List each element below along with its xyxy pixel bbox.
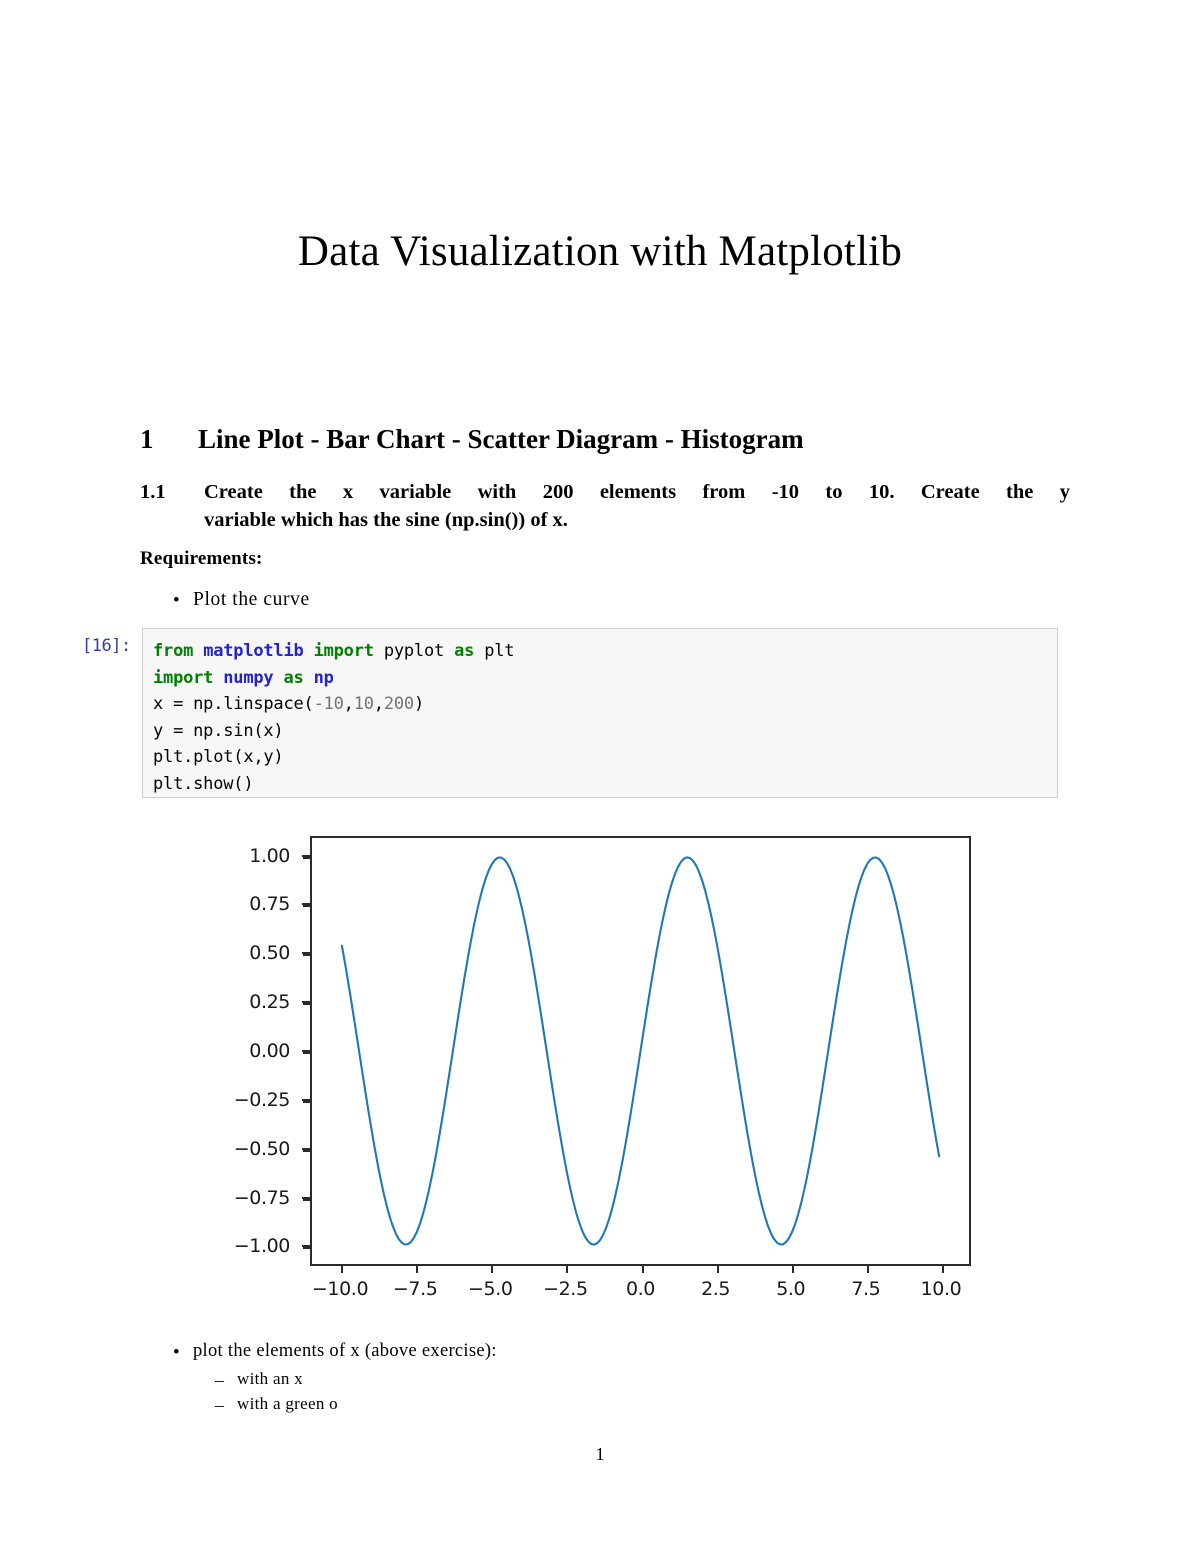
figure-output: 1.000.750.500.250.00−0.25−0.50−0.75−1.00… — [232, 834, 980, 1300]
code-token: -10 — [314, 694, 344, 714]
y-tick-mark-inner — [303, 1101, 312, 1103]
section-number: 1 — [140, 423, 198, 455]
y-tick-label: −0.50 — [234, 1138, 290, 1160]
y-tick-mark-inner — [303, 1247, 312, 1249]
x-tick-label: −10.0 — [312, 1278, 368, 1300]
page-number: 1 — [0, 1444, 1200, 1465]
code-token: matplotlib — [203, 641, 313, 661]
code-token: plt — [484, 641, 514, 661]
code-token: plt.show() — [153, 774, 253, 794]
requirements-label: Requirements: — [140, 548, 263, 570]
list-item: – with a green o — [215, 1394, 338, 1417]
code-line: import numpy as np — [153, 665, 1057, 692]
code-token: pyplot — [384, 641, 454, 661]
code-line: from matplotlib import pyplot as plt — [153, 638, 1057, 665]
x-tick-label: 0.0 — [626, 1278, 655, 1300]
y-tick-label: 0.25 — [249, 991, 290, 1013]
x-tick-label: −5.0 — [468, 1278, 513, 1300]
dash-icon: – — [215, 1369, 237, 1392]
x-tick-label: 7.5 — [851, 1278, 880, 1300]
y-tick-label: 0.50 — [249, 942, 290, 964]
page-title: Data Visualization with Matplotlib — [0, 228, 1200, 275]
list-item: • Plot the curve — [173, 589, 310, 613]
y-tick-label: −1.00 — [234, 1235, 290, 1257]
code-token: x = np.linspace( — [153, 694, 314, 714]
list-item-label: plot the elements of x (above exercise): — [193, 1341, 497, 1362]
list-item: • plot the elements of x (above exercise… — [173, 1341, 497, 1365]
x-tick-mark — [717, 1264, 719, 1273]
code-token: 10 — [354, 694, 374, 714]
y-tick-label: 1.00 — [249, 845, 290, 867]
x-tick-mark — [566, 1264, 568, 1273]
y-tick-mark-inner — [303, 1052, 312, 1054]
x-tick-mark — [642, 1264, 644, 1273]
list-item-label: with an x — [237, 1369, 303, 1389]
plot-area — [310, 836, 971, 1266]
x-tick-mark — [792, 1264, 794, 1273]
code-token: import — [314, 641, 384, 661]
subsection-number: 1.1 — [140, 478, 204, 535]
code-token: plt.plot(x,y) — [153, 747, 283, 767]
code-token: from — [153, 641, 203, 661]
subsection-title: Create the x variable with 200 elements … — [204, 478, 1070, 535]
code-token: as — [283, 668, 313, 688]
code-token: 200 — [384, 694, 414, 714]
x-tick-label: −7.5 — [393, 1278, 438, 1300]
code-token: , — [344, 694, 354, 714]
bullet-icon: • — [173, 1341, 193, 1365]
code-cell-prompt: [16]: — [82, 636, 131, 656]
code-token: , — [374, 694, 384, 714]
code-line: plt.plot(x,y) — [153, 744, 1057, 771]
list-item-label: with a green o — [237, 1394, 338, 1414]
code-line: x = np.linspace(-10,10,200) — [153, 691, 1057, 718]
y-tick-label: 0.75 — [249, 893, 290, 915]
y-tick-mark-inner — [303, 905, 312, 907]
code-token: import — [153, 668, 223, 688]
y-tick-mark-inner — [303, 1003, 312, 1005]
code-cell[interactable]: from matplotlib import pyplot as pltimpo… — [142, 628, 1058, 798]
x-tick-mark — [416, 1264, 418, 1273]
y-tick-mark-inner — [303, 954, 312, 956]
bullet-icon: • — [173, 589, 193, 613]
dash-icon: – — [215, 1394, 237, 1417]
list-item-label: Plot the curve — [193, 589, 310, 611]
y-tick-mark-inner — [303, 857, 312, 859]
section-title: Line Plot - Bar Chart - Scatter Diagram … — [198, 423, 1070, 455]
y-tick-label: 0.00 — [249, 1040, 290, 1062]
x-tick-label: 10.0 — [921, 1278, 962, 1300]
y-tick-mark-inner — [303, 1199, 312, 1201]
code-token: ) — [414, 694, 424, 714]
subsection-title-line-2: variable which has the sine (np.sin()) o… — [204, 506, 1070, 534]
x-tick-mark — [867, 1264, 869, 1273]
list-item: – with an x — [215, 1369, 303, 1392]
x-tick-label: 5.0 — [776, 1278, 805, 1300]
sine-curve-svg — [312, 838, 969, 1264]
sine-curve-line — [342, 857, 939, 1244]
y-tick-label: −0.25 — [234, 1089, 290, 1111]
code-cell-source[interactable]: from matplotlib import pyplot as pltimpo… — [153, 638, 1057, 797]
section-heading-1: 1 Line Plot - Bar Chart - Scatter Diagra… — [140, 423, 1070, 455]
code-line: y = np.sin(x) — [153, 718, 1057, 745]
x-tick-mark — [341, 1264, 343, 1273]
y-tick-mark-inner — [303, 1150, 312, 1152]
y-tick-label: −0.75 — [234, 1187, 290, 1209]
x-tick-label: −2.5 — [543, 1278, 588, 1300]
code-line: plt.show() — [153, 771, 1057, 798]
code-token: y = np.sin(x) — [153, 721, 283, 741]
code-token: np — [314, 668, 334, 688]
x-tick-mark — [491, 1264, 493, 1273]
x-tick-mark — [942, 1264, 944, 1273]
subsection-heading-1-1: 1.1 Create the x variable with 200 eleme… — [140, 478, 1070, 535]
code-token: numpy — [223, 668, 283, 688]
subsection-title-line-1: Create the x variable with 200 elements … — [204, 478, 1070, 506]
code-token: as — [454, 641, 484, 661]
x-tick-label: 2.5 — [701, 1278, 730, 1300]
